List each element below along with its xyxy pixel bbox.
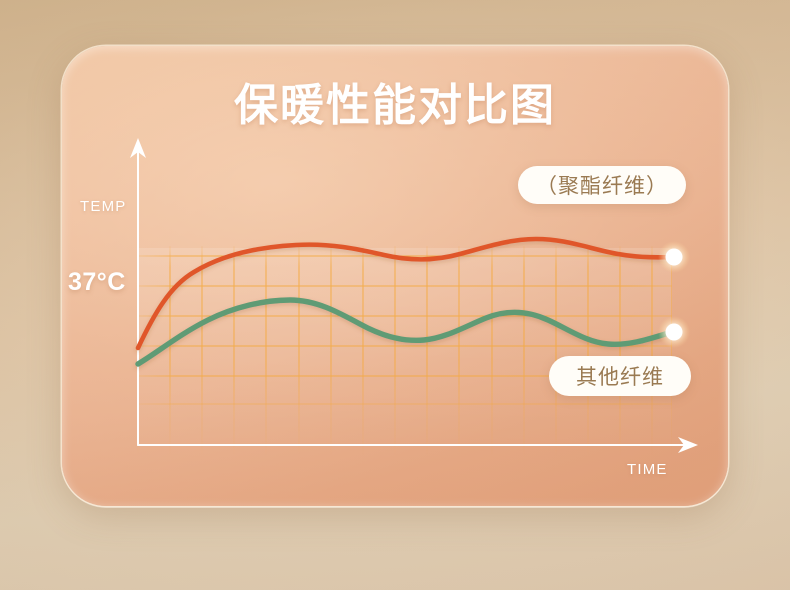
chart-svg — [62, 46, 728, 506]
chart-card: 保暖性能对比图 — [62, 46, 728, 506]
legend-pill-other-fiber[interactable]: 其他纤维 — [549, 356, 691, 396]
y-axis-label: TEMP — [80, 198, 126, 215]
reference-temperature-value: 37°C — [68, 268, 126, 297]
endpoint-dot-polyester — [666, 249, 683, 266]
comparison-line-chart: TEMP TIME 37°C （聚酯纤维） 其他纤维 — [62, 46, 728, 506]
plot-panel — [138, 248, 672, 448]
legend-pill-polyester[interactable]: （聚酯纤维） — [518, 166, 686, 204]
endpoint-dot-other-fiber — [666, 324, 683, 341]
screenshot-canvas: 保暖性能对比图 — [0, 0, 790, 590]
x-axis-label: TIME — [627, 461, 668, 478]
